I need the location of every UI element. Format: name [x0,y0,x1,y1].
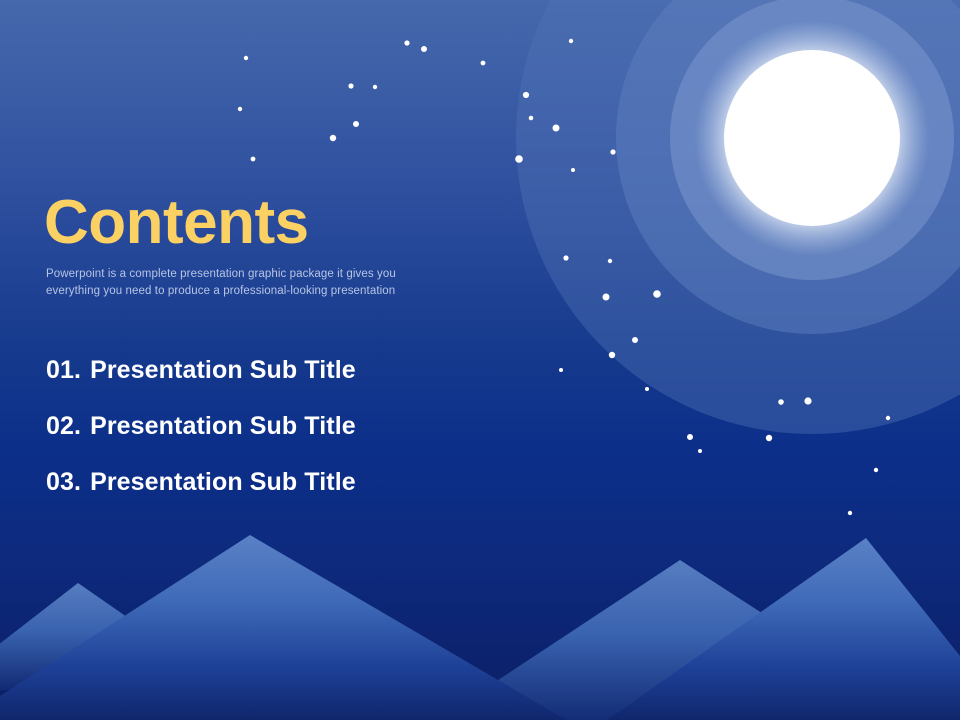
star-icon [563,255,568,260]
star-icon [553,125,560,132]
star-icon [238,107,242,111]
star-icon [804,397,811,404]
star-icon [653,290,661,298]
star-icon [421,46,427,52]
star-icon [404,40,409,45]
star-icon [373,85,377,89]
star-icon [766,435,772,441]
slide-subtitle: Powerpoint is a complete presentation gr… [46,266,446,299]
star-icon [348,83,353,88]
star-icon [645,387,649,391]
list-item[interactable]: 01.Presentation Sub Title [46,356,566,385]
toc-item-number: 02. [46,412,81,441]
star-icon [632,337,638,343]
star-icon [244,56,248,60]
toc-item-label: Presentation Sub Title [90,468,356,497]
table-of-contents: 01.Presentation Sub Title02.Presentation… [46,356,566,524]
star-icon [848,511,852,515]
star-icon [610,149,615,154]
star-icon [778,399,784,405]
page-title: Contents [44,192,504,254]
star-icon [523,92,529,98]
moon-group [694,20,930,256]
toc-item-label: Presentation Sub Title [90,412,356,441]
mountain-range [0,535,960,720]
star-icon [529,116,534,121]
list-item[interactable]: 03.Presentation Sub Title [46,468,566,497]
star-icon [609,352,615,358]
star-icon [874,468,878,472]
star-icon [608,259,612,263]
star-icon [571,168,575,172]
star-icon [353,121,359,127]
star-icon [687,434,693,440]
star-icon [515,155,523,163]
moon-disc [724,50,900,226]
slide-heading-block: Contents Powerpoint is a complete presen… [44,192,504,299]
star-icon [569,39,573,43]
toc-item-number: 01. [46,356,81,385]
star-icon [886,416,890,420]
presentation-slide: Contents Powerpoint is a complete presen… [0,0,960,720]
star-icon [698,449,702,453]
star-icon [603,294,610,301]
toc-item-label: Presentation Sub Title [90,356,356,385]
star-icon [251,157,256,162]
toc-item-number: 03. [46,468,81,497]
star-icon [330,135,336,141]
star-icon [481,61,486,66]
list-item[interactable]: 02.Presentation Sub Title [46,412,566,441]
